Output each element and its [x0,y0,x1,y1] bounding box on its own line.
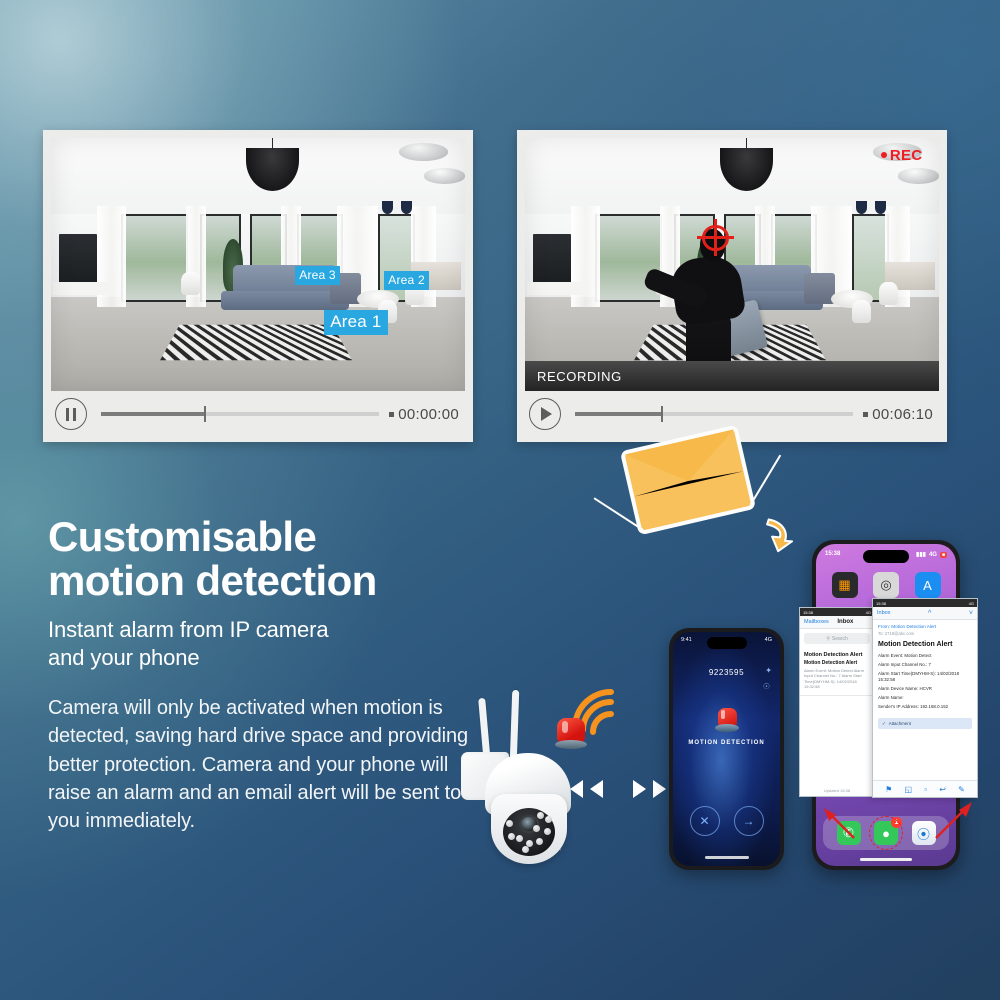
pointer-arrow-right-icon [930,800,974,840]
video-player-recording[interactable]: REC RECORDING 00:06:10 [517,130,947,442]
siren-icon [715,708,739,734]
headline-line-1: Customisable [48,515,478,559]
back-to-mailboxes-button[interactable]: Mailboxes [804,619,829,625]
status-time: 9:41 [681,637,692,643]
phone-motion-alert[interactable]: 9:41 4G 9223595 ✦ ☉ MOTION DETECTION ✕ → [669,628,784,870]
mail-sender: Motion Detection Alert [804,652,870,658]
progress-scrubber[interactable] [575,412,853,416]
camera-head [491,794,567,864]
close-icon[interactable]: ✕ [690,806,720,836]
camera-app-icon[interactable]: ◎ [873,572,899,598]
subheading-line-2: and your phone [48,644,478,672]
camera-lens-plate [503,808,555,856]
progress-scrubber[interactable] [101,412,379,416]
timestamp-idle: 00:00:00 [389,406,465,423]
mute-icon[interactable]: ☉ [763,682,770,691]
search-placeholder: Search [832,636,848,642]
area-tag-3[interactable]: Area 3 [295,266,340,285]
area-tag-2[interactable]: Area 2 [384,271,429,290]
rewind-icon [570,780,603,798]
chevron-down-icon[interactable]: ˅ [969,610,973,617]
back-to-inbox-button[interactable]: Inbox [877,610,890,616]
app-store-app-icon[interactable]: A [915,572,941,598]
inbox-title: Inbox [837,619,853,625]
camera-feed-idle: Area 3 Area 2 Area 1 [51,138,465,391]
status-bar-home: 15:38 ▮▮▮ 4G ■ [816,551,956,558]
mail-from: From: Motion Detection Alert [878,624,972,629]
battery-icon: ■ [940,552,947,558]
calculator-app-icon[interactable]: ▦ [832,572,858,598]
mail-updated-label: Updated 15:38 [800,788,874,793]
headline-line-2: motion detection [48,559,478,603]
room-scene [51,138,465,391]
search-icon: ⚲ [826,636,830,642]
compose-icon[interactable]: ✎ [958,785,965,794]
reply-icon[interactable]: ↩ [939,785,946,794]
alert-label: MOTION DETECTION [673,740,780,746]
record-dot-icon [881,152,887,158]
antenna-right [510,690,520,762]
mail-list-item[interactable]: Motion Detection Alert Motion Detection … [800,648,874,696]
mail-preview: Alarm Event: Motion Detect Alarm Input C… [804,668,870,690]
trash-icon[interactable]: ▫ [924,785,927,794]
arrow-curved-icon [756,513,801,556]
mail-detail-nav-bar[interactable]: Inbox ^ ˅ [873,607,977,620]
signal-icon: ▮▮▮ [916,551,926,558]
bluetooth-icon[interactable]: ✦ [765,666,772,675]
fast-forward-icon [633,780,666,798]
subheading: Instant alarm from IP camera and your ph… [48,616,478,671]
paperclip-icon: ✓ [882,721,886,727]
mail-detail-screenshot[interactable]: 15:384G Inbox ^ ˅ From: Motion Detection… [872,598,978,798]
mail-subject: Motion Detection Alert [804,660,870,666]
video-player-idle[interactable]: Area 3 Area 2 Area 1 00:00:00 [43,130,473,442]
chevron-up-icon[interactable]: ^ [928,610,931,617]
timestamp-recording: 00:06:10 [863,406,939,423]
mail-nav-bar[interactable]: Mailboxes Inbox [800,616,874,629]
pointer-arrow-left-icon [820,806,858,840]
status-time: 15:38 [825,551,840,558]
alert-actions[interactable]: ✕ → [673,806,780,836]
app-grid[interactable]: ▦ ◎ A [816,572,956,598]
subheading-line-1: Instant alarm from IP camera [48,616,478,644]
network-label: 4G [929,552,937,558]
ios-status-bar: 15:384G [873,599,977,607]
folder-icon[interactable]: ◱ [904,785,912,794]
status-indicators: 4G [765,637,772,643]
pause-icon[interactable] [55,398,87,430]
recording-banner: RECORDING [525,361,939,391]
home-indicator [860,858,912,861]
mail-body-line: Alarm Start Time(DMYHM-S): 14/02/2018 15… [873,669,977,684]
ios-status-bar: 15:384G [800,608,874,616]
status-bar-alert: 9:41 4G [673,637,780,643]
stop-square-icon [863,412,868,417]
rec-indicator: REC [881,147,923,164]
mail-body-line: Sender's IP Address: 192.168.0.152 [873,703,977,712]
mail-body-line: Alarm Input Channel No.: 7 [873,660,977,669]
highlight-ring [869,816,903,850]
mail-detail-subject: Motion Detection Alert [873,636,977,651]
mail-body-line: Alarm Name: [873,694,977,703]
arrow-right-icon[interactable]: → [734,806,764,836]
messages-app-icon[interactable]: ● 1 [874,821,898,845]
mail-body-line: Alarm Event: Motion Detect [873,651,977,660]
alert-number: 9223595 [673,668,780,677]
mail-toolbar[interactable]: ⚑ ◱ ▫ ↩ ✎ [873,780,977,797]
target-crosshair-icon [697,219,734,256]
mail-inbox-screenshot[interactable]: 15:384G Mailboxes Inbox ⚲ Search Motion … [799,607,875,797]
area-tag-1[interactable]: Area 1 [324,310,387,335]
siren-icon [555,718,589,752]
search-input[interactable]: ⚲ Search [804,633,870,644]
body-paragraph: Camera will only be activated when motio… [48,694,478,836]
mail-attachment[interactable]: ✓ Attachment [878,718,972,729]
page-title: Customisable motion detection [48,515,478,602]
flag-icon[interactable]: ⚑ [885,785,892,794]
home-indicator [705,856,749,859]
mail-body-line: Alarm Device Name: HCVR [873,685,977,694]
player-controls-idle[interactable]: 00:00:00 [51,392,465,436]
marketing-copy: Customisable motion detection Instant al… [48,515,478,836]
play-icon[interactable] [529,398,561,430]
camera-feed-recording: REC RECORDING [525,138,939,391]
stop-square-icon [389,412,394,417]
attachment-label: Attachment [889,721,911,726]
